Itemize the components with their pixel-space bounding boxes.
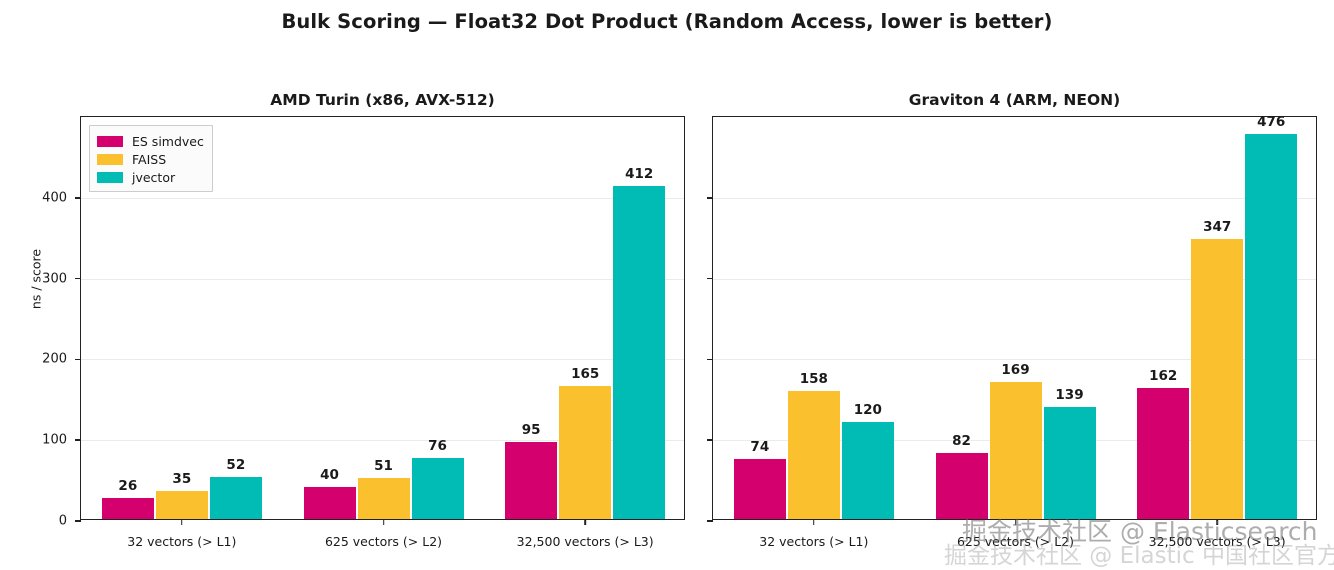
bar[interactable]: 412: [613, 186, 665, 519]
y-tick-label: 100: [21, 433, 67, 448]
figure-title: Bulk Scoring — Float32 Dot Product (Rand…: [0, 10, 1334, 33]
x-tick-mark: [584, 519, 586, 525]
chart-legend: ES simdvecFAISSjvector: [89, 125, 213, 192]
bar[interactable]: 35: [156, 491, 208, 519]
y-tick-mark: [707, 520, 713, 522]
x-tick-label: 32,500 vectors (> L3): [1149, 534, 1286, 549]
y-tick-mark: [75, 439, 81, 441]
y-tick-mark: [75, 520, 81, 522]
bar-value-label: 82: [952, 433, 971, 449]
x-tick-mark: [1216, 519, 1218, 525]
y-tick-label: 0: [21, 514, 67, 529]
bar[interactable]: 74: [734, 459, 786, 519]
y-tick-mark: [75, 197, 81, 199]
bar[interactable]: 95: [505, 442, 557, 519]
bar[interactable]: 165: [559, 386, 611, 519]
legend-item-es-simdvec[interactable]: ES simdvec: [97, 132, 204, 150]
legend-label: FAISS: [132, 152, 166, 167]
x-tick-label: 32 vectors (> L1): [127, 534, 236, 549]
bar-value-label: 95: [522, 422, 541, 438]
bar[interactable]: 52: [210, 477, 262, 519]
bar-value-label: 76: [428, 438, 447, 454]
y-tick-mark: [707, 197, 713, 199]
bar-value-label: 165: [571, 366, 599, 382]
bar-value-label: 35: [172, 471, 191, 487]
bar-value-label: 169: [1001, 362, 1029, 378]
grid-line: [81, 198, 684, 199]
bar-value-label: 158: [800, 371, 828, 387]
bar-value-label: 74: [750, 439, 769, 455]
subplot-title-right: Graviton 4 (ARM, NEON): [713, 91, 1316, 109]
y-tick-mark: [707, 439, 713, 441]
grid-line: [81, 279, 684, 280]
bar-value-label: 412: [625, 166, 653, 182]
x-tick-mark: [383, 519, 385, 525]
bar[interactable]: 120: [842, 422, 894, 519]
legend-item-jvector[interactable]: jvector: [97, 168, 204, 186]
x-tick-label: 32,500 vectors (> L3): [517, 534, 654, 549]
bar-value-label: 120: [854, 402, 882, 418]
legend-swatch-icon: [97, 136, 123, 147]
bar[interactable]: 158: [788, 391, 840, 519]
bar-value-label: 52: [226, 457, 245, 473]
bar[interactable]: 347: [1191, 239, 1243, 519]
subplot-graviton-4: Graviton 4 (ARM, NEON) 32 vectors (> L1)…: [712, 116, 1317, 520]
legend-label: ES simdvec: [132, 134, 204, 149]
x-tick-mark: [181, 519, 183, 525]
x-tick-mark: [813, 519, 815, 525]
subplot-amd-turin: AMD Turin (x86, AVX-512) ES simdvecFAISS…: [80, 116, 685, 520]
y-tick-mark: [707, 278, 713, 280]
bar[interactable]: 40: [304, 487, 356, 519]
bar-value-label: 40: [320, 467, 339, 483]
x-tick-label: 625 vectors (> L2): [325, 534, 442, 549]
bar[interactable]: 51: [358, 478, 410, 519]
bar[interactable]: 169: [990, 382, 1042, 519]
x-tick-mark: [1015, 519, 1017, 525]
y-tick-label: 200: [21, 352, 67, 367]
bar[interactable]: 476: [1245, 134, 1297, 519]
y-tick-label: 300: [21, 271, 67, 286]
y-tick-mark: [707, 359, 713, 361]
legend-item-faiss[interactable]: FAISS: [97, 150, 204, 168]
grid-line: [713, 198, 1316, 199]
bar[interactable]: 26: [102, 498, 154, 519]
y-tick-mark: [75, 278, 81, 280]
bar[interactable]: 76: [412, 458, 464, 519]
legend-swatch-icon: [97, 172, 123, 183]
bar-value-label: 51: [374, 458, 393, 474]
y-tick-mark: [75, 359, 81, 361]
grid-line: [81, 359, 684, 360]
x-tick-label: 625 vectors (> L2): [957, 534, 1074, 549]
bar[interactable]: 82: [936, 453, 988, 519]
bar[interactable]: 162: [1137, 388, 1189, 519]
legend-swatch-icon: [97, 154, 123, 165]
bar-value-label: 26: [118, 478, 137, 494]
y-tick-label: 400: [21, 190, 67, 205]
bar[interactable]: 139: [1044, 407, 1096, 519]
legend-label: jvector: [132, 170, 175, 185]
bar-value-label: 347: [1203, 219, 1231, 235]
subplot-title-left: AMD Turin (x86, AVX-512): [81, 91, 684, 109]
bar-value-label: 476: [1257, 114, 1285, 130]
bar-value-label: 139: [1055, 387, 1083, 403]
bar-value-label: 162: [1149, 368, 1177, 384]
x-tick-label: 32 vectors (> L1): [759, 534, 868, 549]
